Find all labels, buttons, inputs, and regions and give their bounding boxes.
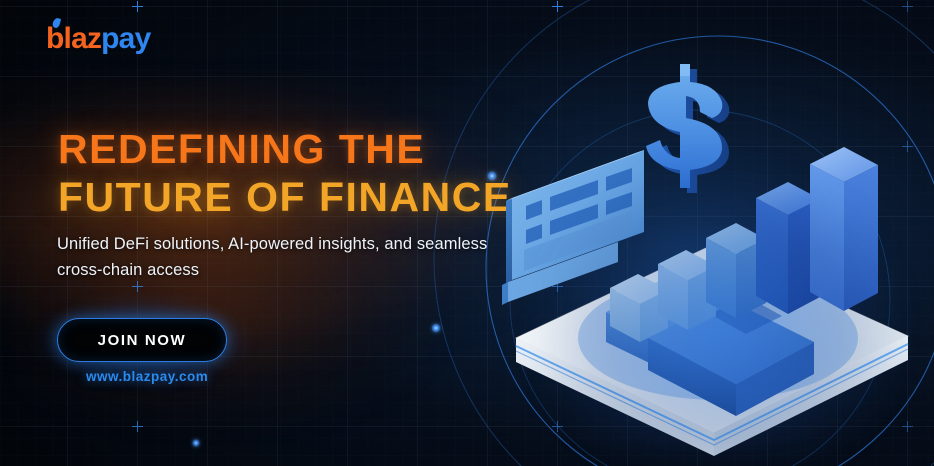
- headline-line-2: FUTURE OF FINANCE: [58, 176, 512, 218]
- logo-letter-b: b: [46, 24, 64, 54]
- cta-container: JOIN NOW: [57, 318, 227, 362]
- subtitle-text: Unified DeFi solutions, AI-powered insig…: [57, 232, 497, 283]
- website-url[interactable]: www.blazpay.com: [86, 369, 208, 384]
- page-title: REDEFINING THE FUTURE OF FINANCE: [58, 128, 512, 218]
- join-now-button[interactable]: JOIN NOW: [57, 318, 227, 362]
- illustration-glow: [538, 166, 898, 456]
- promo-banner: b laz pay REDEFINING THE FUTURE OF FINAN…: [0, 0, 934, 466]
- logo-text-blaz: laz: [64, 24, 102, 54]
- brand-logo[interactable]: b laz pay: [46, 24, 150, 54]
- headline-line-1: REDEFINING THE: [58, 128, 512, 170]
- logo-text-pay: pay: [101, 24, 150, 54]
- hero-illustration: [498, 46, 928, 466]
